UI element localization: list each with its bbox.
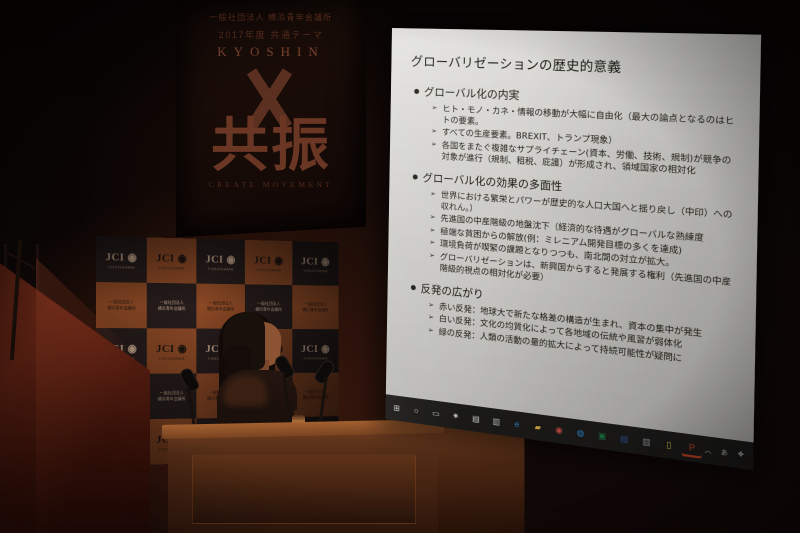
speaker-shoulder-highlight — [223, 376, 267, 406]
sub-bullet-arrow-icon: ➢ — [429, 251, 435, 261]
sub-bullet-arrow-icon: ➢ — [432, 104, 438, 114]
edge-browser-icon[interactable]: e — [508, 414, 526, 434]
banner-organization-line: 一般社団法人 横浜青年会議所 — [176, 12, 366, 23]
skype-icon[interactable]: ◍ — [571, 423, 590, 443]
slide-block: グローバル化の内実➢ヒト・モノ・カネ・情報の移動が大幅に自由化（最大の論点となる… — [405, 84, 741, 180]
bullet-dot-icon — [411, 285, 416, 291]
settings-gear-icon[interactable]: ✷ — [447, 406, 464, 426]
sub-bullet-arrow-icon: ➢ — [431, 127, 437, 137]
word-icon[interactable]: ▤ — [615, 429, 634, 450]
excel-icon[interactable]: ▣ — [593, 426, 612, 447]
powerpoint-icon[interactable]: P — [682, 438, 702, 459]
sub-bullet-arrow-icon: ➢ — [428, 313, 434, 323]
cortana-search-icon[interactable]: ○ — [408, 401, 425, 420]
banner-subtitle-line: 2017年度 共通テーマ — [176, 28, 366, 41]
file-explorer-icon[interactable]: ▰ — [529, 417, 547, 437]
sub-bullet-arrow-icon: ➢ — [428, 301, 434, 311]
banner-tagline: CREATE MOVEMENT — [176, 180, 366, 189]
slide-title: グローバリゼーションの歴史的意義 — [411, 50, 742, 79]
slide-heading-text: グローバル化の内実 — [424, 84, 520, 103]
banner-kanji-title: 共振 — [176, 116, 366, 174]
projection-screen-area: グローバリゼーションの歴史的意義 グローバル化の内実➢ヒト・モノ・カネ・情報の移… — [392, 28, 744, 448]
bullet-dot-icon — [413, 174, 418, 179]
presentation-slide: グローバリゼーションの歴史的意義 グローバル化の内実➢ヒト・モノ・カネ・情報の移… — [386, 28, 761, 442]
sub-bullet-arrow-icon: ➢ — [431, 140, 437, 150]
sub-bullet-arrow-icon: ➢ — [430, 190, 436, 200]
podium-front-panel — [192, 454, 416, 524]
bullet-dot-icon — [414, 89, 419, 94]
show-hidden-icons-chevron[interactable]: ︿ — [701, 441, 714, 459]
sub-bullet-arrow-icon: ➢ — [429, 238, 435, 248]
banner-english-title: KYOSHIN — [176, 44, 366, 60]
sub-bullet-arrow-icon: ➢ — [430, 213, 436, 223]
mail-icon[interactable]: ▥ — [487, 412, 505, 432]
slide-block: グローバル化の効果の多面性➢世界における繁栄とパワーが歴史的な人口大国へと揺り戻… — [403, 169, 739, 301]
sub-bullet-arrow-icon: ➢ — [428, 326, 434, 336]
ime-status-icon[interactable]: あ — [718, 443, 731, 461]
sub-bullet-arrow-icon: ➢ — [429, 226, 435, 236]
slide-body: グローバル化の内実➢ヒト・モノ・カネ・情報の移動が大幅に自由化（最大の論点となる… — [402, 84, 741, 371]
bluetooth-icon[interactable]: ✤ — [734, 446, 747, 464]
notes-icon[interactable]: ▯ — [659, 434, 679, 455]
chrome-browser-icon[interactable]: ◉ — [550, 420, 568, 440]
store-icon[interactable]: ▤ — [467, 409, 485, 429]
start-button[interactable]: ⊞ — [388, 399, 405, 418]
task-view-icon[interactable]: ▭ — [427, 404, 444, 423]
photo-scene: 一般社団法人 横浜青年会議所 2017年度 共通テーマ KYOSHIN 共振 C… — [0, 0, 800, 533]
projection-screen: グローバリゼーションの歴史的意義 グローバル化の内実➢ヒト・モノ・カネ・情報の移… — [385, 28, 761, 470]
venue-theme-banner: 一般社団法人 横浜青年会議所 2017年度 共通テーマ KYOSHIN 共振 C… — [176, 0, 366, 237]
window-icon[interactable]: ▥ — [637, 432, 656, 453]
